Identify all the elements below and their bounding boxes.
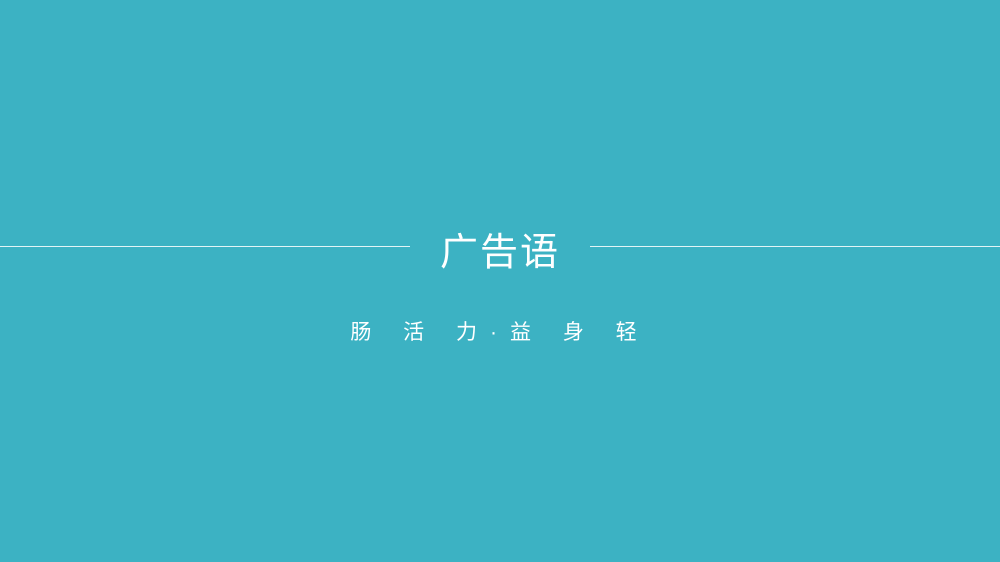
- divider-rule-right: [590, 246, 1000, 247]
- slide-canvas: 广告语 肠 活 力·益 身 轻: [0, 0, 1000, 562]
- slide-subtitle: 肠 活 力·益 身 轻: [0, 320, 1000, 345]
- subtitle-left-phrase: 肠 活 力: [350, 321, 490, 344]
- subtitle-right-phrase: 益 身 轻: [510, 321, 650, 344]
- title-band: 广告语: [0, 216, 1000, 278]
- subtitle-separator-dot: ·: [490, 321, 510, 344]
- divider-rule-left: [0, 246, 410, 247]
- slide-title: 广告语: [410, 234, 590, 272]
